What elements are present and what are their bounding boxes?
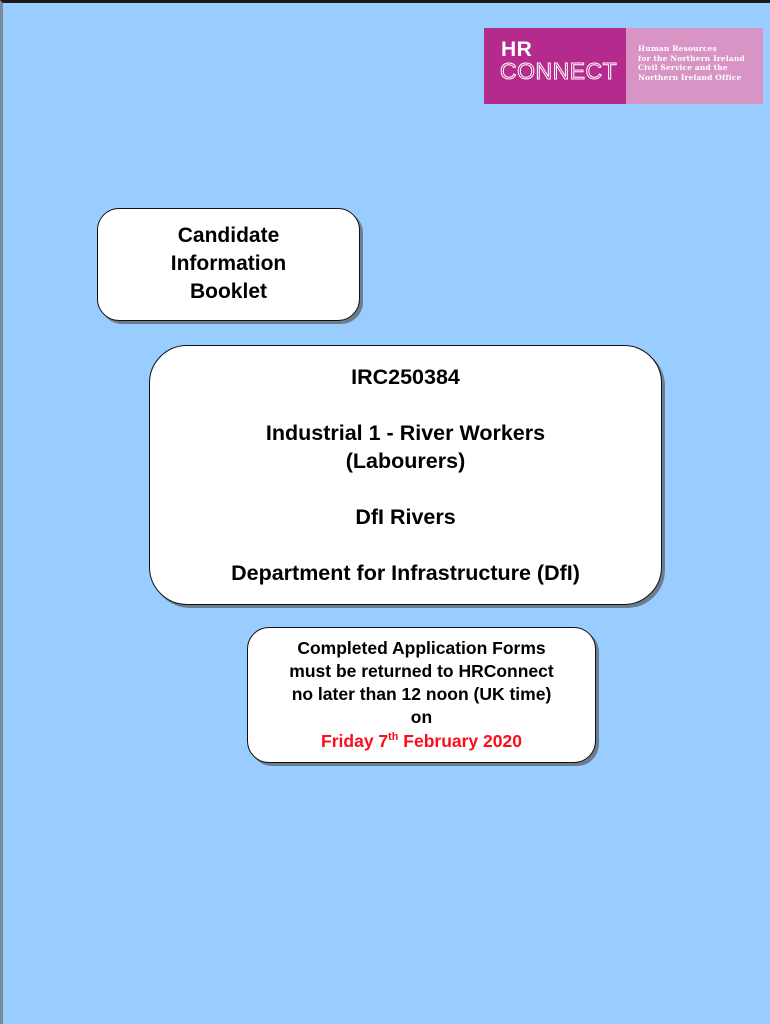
deadline-line-4: on — [411, 706, 432, 729]
booklet-line-1: Candidate — [178, 222, 280, 250]
tagline-line-2: for the Northern Ireland — [638, 54, 763, 64]
vacancy-reference: IRC250384 — [351, 363, 460, 391]
hr-connect-logo-mark: HR CONNECT — [484, 28, 626, 104]
hr-connect-logo: HR CONNECT Human Resources for the North… — [484, 28, 763, 104]
logo-brand-connect: CONNECT — [500, 60, 617, 83]
booklet-title-card: Candidate Information Booklet — [97, 208, 360, 321]
application-deadline-card: Completed Application Forms must be retu… — [247, 627, 596, 763]
deadline-date-ordinal: th — [388, 731, 398, 743]
deadline-date-day: Friday 7 — [321, 731, 388, 751]
tagline-line-3: Civil Service and the — [638, 63, 763, 73]
deadline-line-2: must be returned to HRConnect — [289, 660, 553, 683]
vacancy-details-card: IRC250384 Industrial 1 - River Workers (… — [149, 345, 662, 605]
vacancy-job-title-line-1: Industrial 1 - River Workers — [266, 419, 545, 447]
deadline-line-3: no later than 12 noon (UK time) — [292, 683, 552, 706]
deadline-line-1: Completed Application Forms — [297, 637, 545, 660]
vacancy-department: Department for Infrastructure (DfI) — [231, 559, 580, 587]
booklet-line-3: Booklet — [190, 278, 267, 306]
booklet-line-2: Information — [171, 250, 287, 278]
deadline-date: Friday 7th February 2020 — [321, 730, 522, 753]
tagline-line-4: Northern Ireland Office — [638, 73, 763, 83]
deadline-date-rest: February 2020 — [398, 731, 522, 751]
document-page: HR CONNECT Human Resources for the North… — [0, 0, 770, 1024]
hr-connect-tagline: Human Resources for the Northern Ireland… — [626, 28, 763, 104]
logo-brand-hr: HR — [501, 39, 532, 60]
vacancy-job-title-line-2: (Labourers) — [346, 447, 465, 475]
tagline-line-1: Human Resources — [638, 44, 763, 54]
vacancy-business-area: DfI Rivers — [355, 503, 455, 531]
